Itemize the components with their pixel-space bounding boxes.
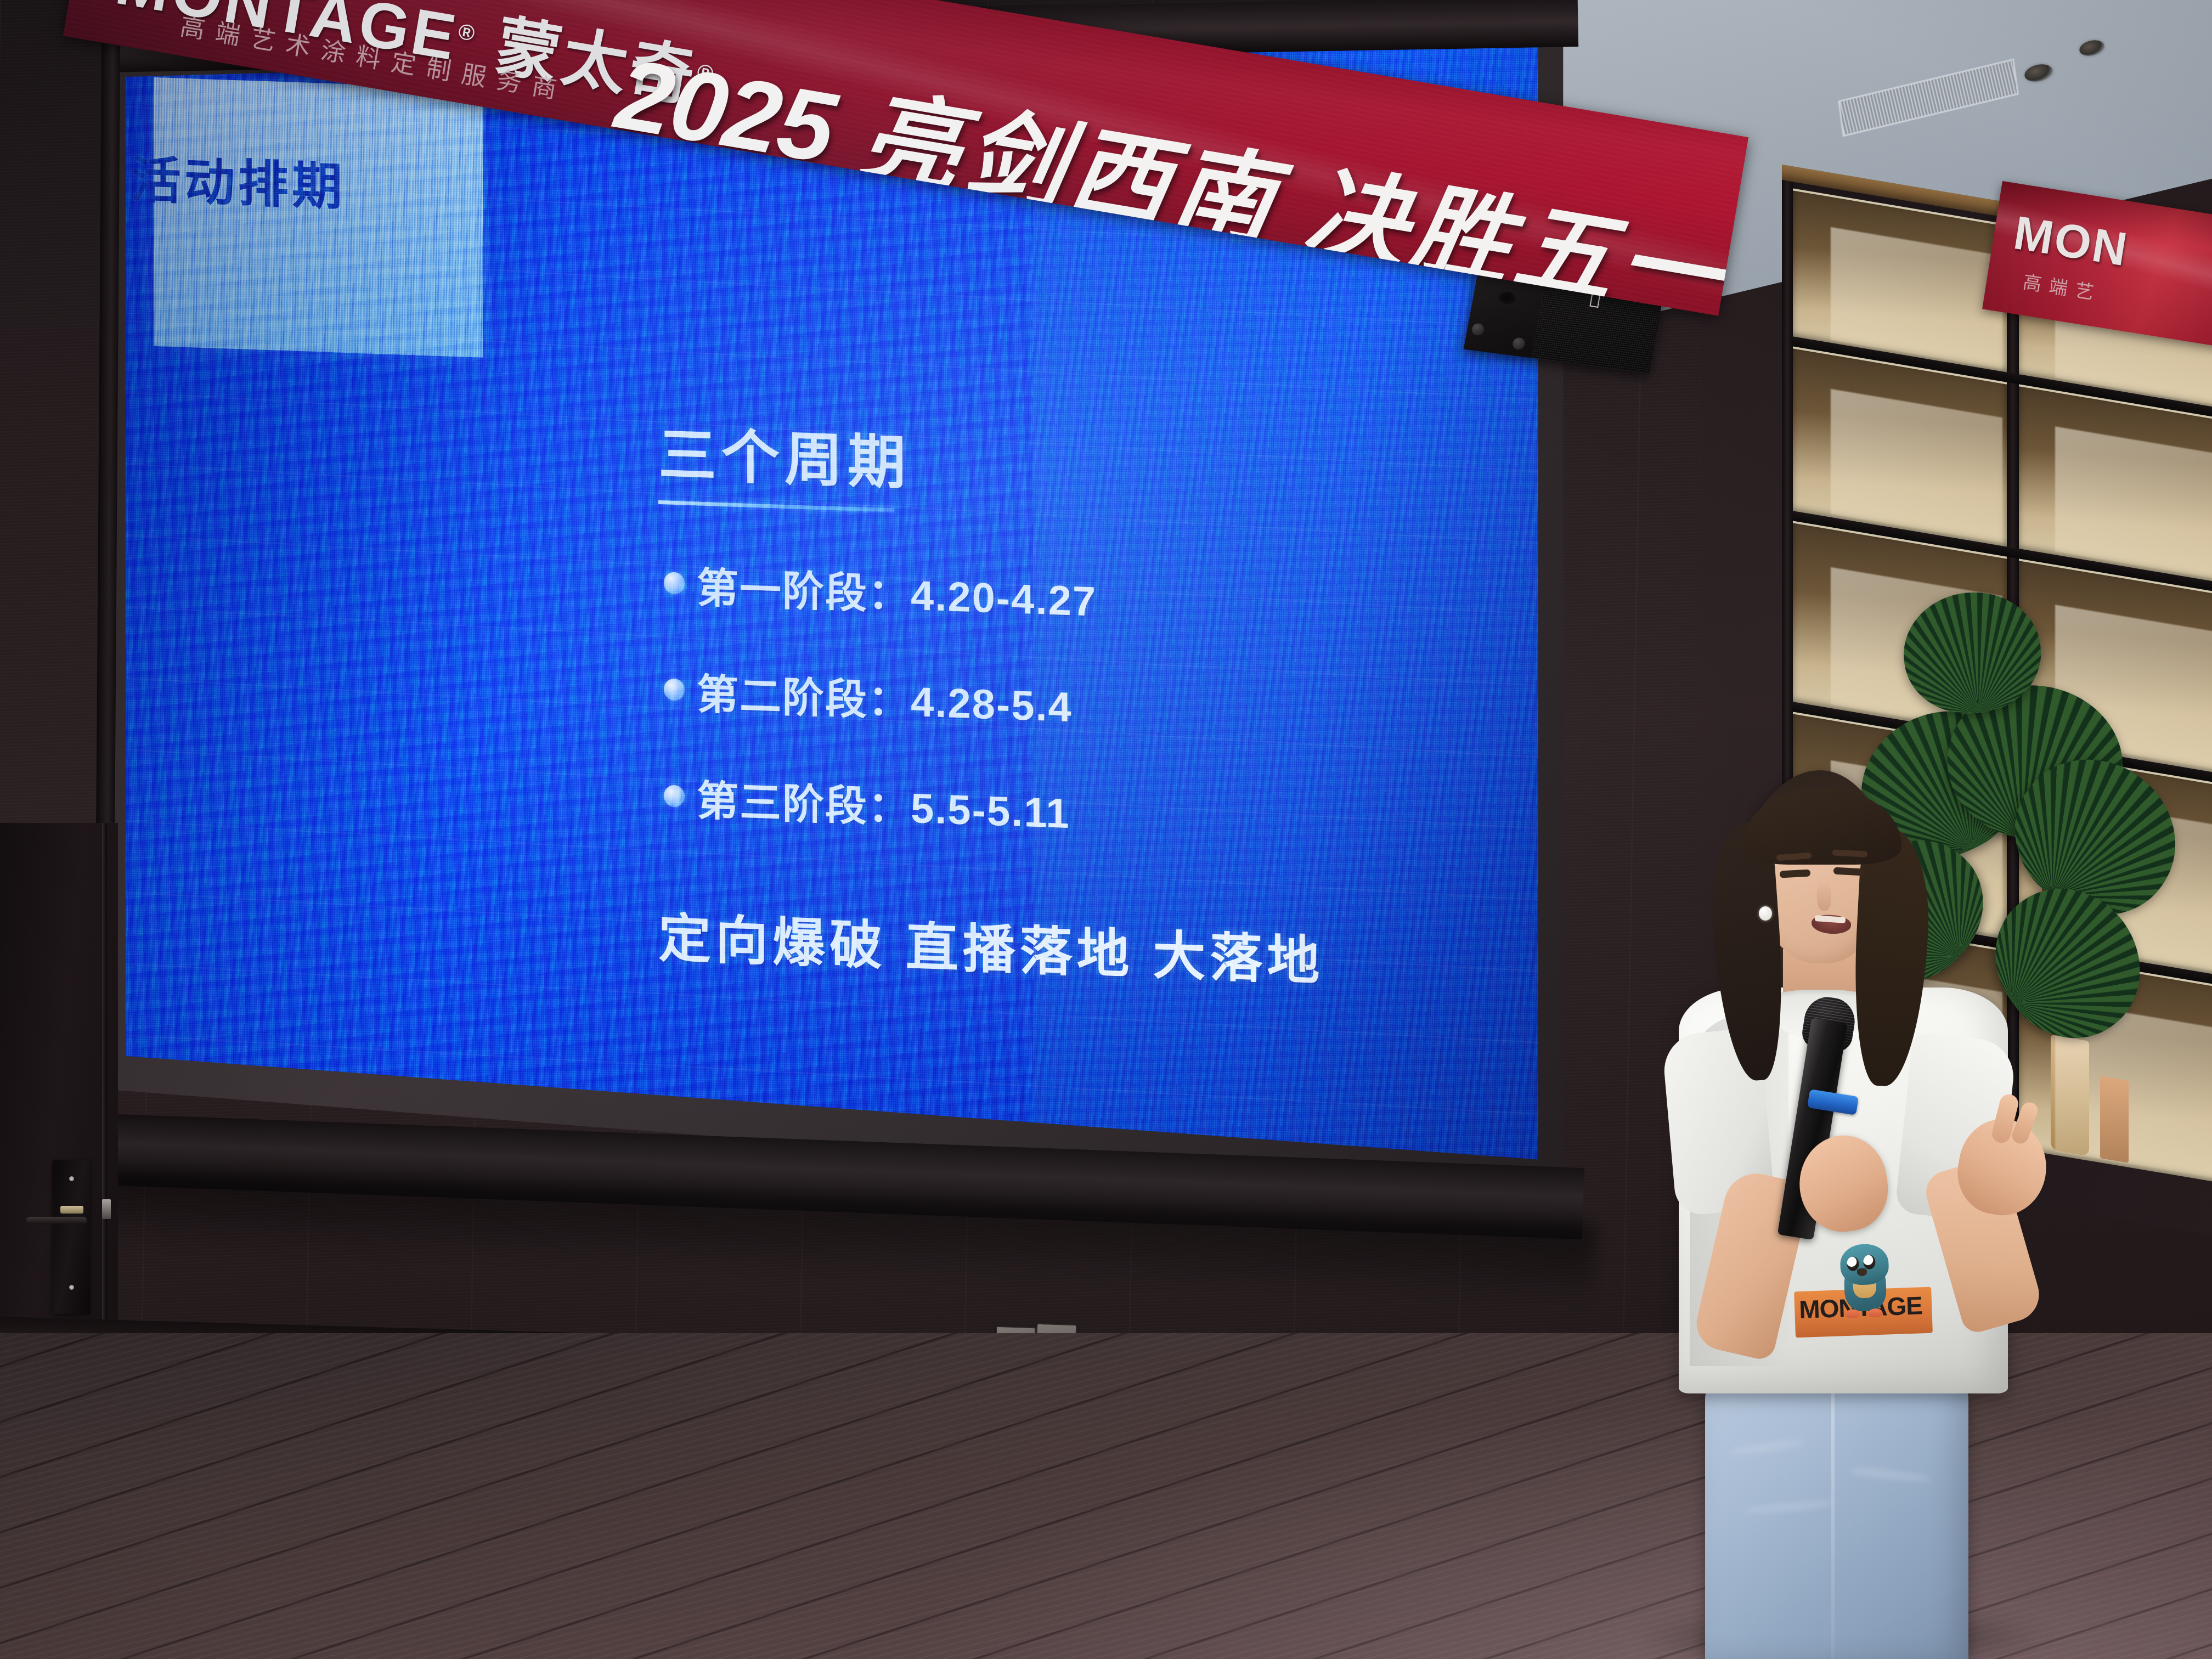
bird-mascot-icon — [1835, 1243, 1895, 1322]
presenter: MONTAGE — [1618, 757, 2112, 1659]
conference-room-photo: 活动排期 三个周期 第一阶段：4.20-4.27 第二阶段：4.28-5.4 第… — [0, 0, 2212, 1659]
door-screw — [69, 1176, 74, 1181]
door-key-icon[interactable] — [60, 1206, 83, 1214]
presenter-tshirt-graphic: MONTAGE — [1792, 1237, 1933, 1340]
banner-registered-mark: ® — [456, 19, 479, 46]
presenter-hair-front — [1742, 788, 1901, 865]
speaker-port — [1498, 291, 1516, 305]
speaker-bolt — [1511, 337, 1526, 351]
mascot-foot — [1845, 1309, 1860, 1318]
presenter-earring — [1759, 906, 1772, 921]
door-screw — [69, 1285, 74, 1290]
presenter-nose — [1817, 881, 1831, 911]
door-handle-plate[interactable] — [53, 1160, 90, 1314]
speaker-bolt — [1471, 323, 1485, 336]
door-strike-plate — [102, 1199, 111, 1219]
door-handle-icon[interactable] — [26, 1217, 87, 1224]
mascot-foot — [1868, 1308, 1883, 1318]
presenter-jeans-seam — [1831, 1383, 1835, 1659]
presenter-jeans — [1705, 1377, 1968, 1659]
